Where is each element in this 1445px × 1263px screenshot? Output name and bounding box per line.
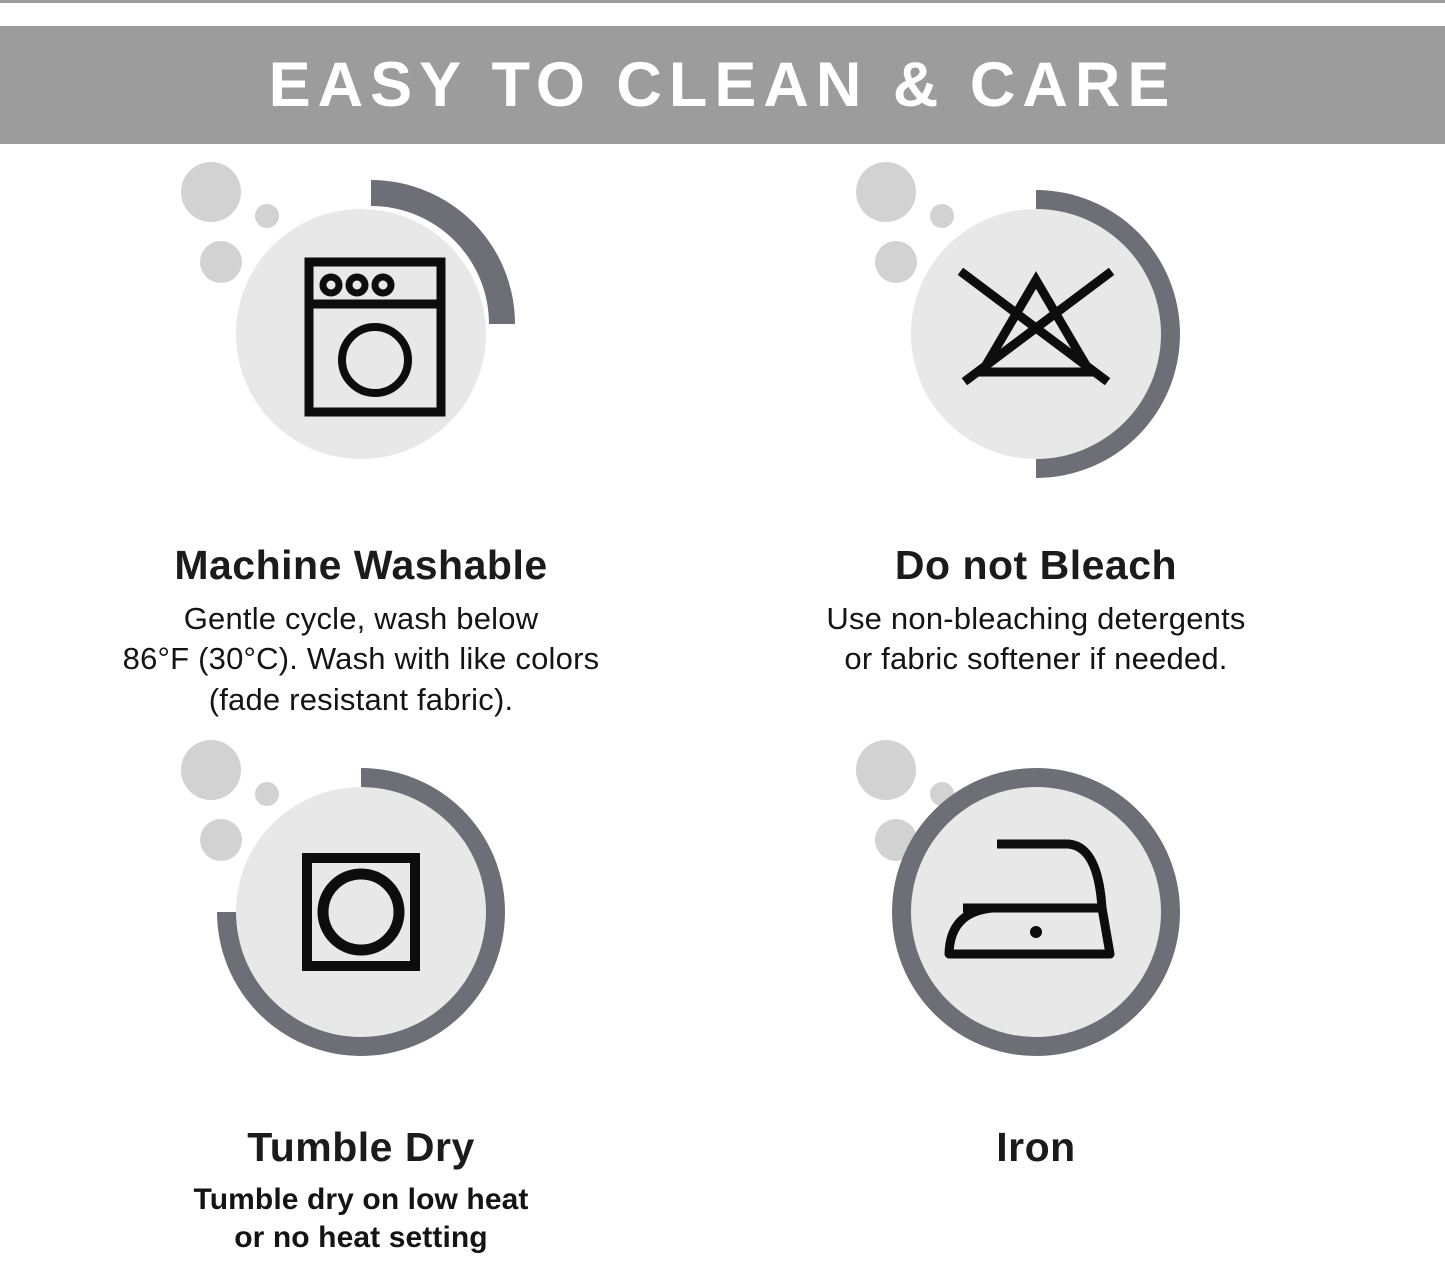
bubble-large-icon <box>181 740 241 800</box>
bubble-small-icon <box>930 204 954 228</box>
card-body-tumble-dry: Tumble dry on low heat or no heat settin… <box>41 1181 681 1257</box>
top-divider-rule <box>0 0 1445 3</box>
tumble-dry-badge <box>161 722 561 1122</box>
page-title: EASY TO CLEAN & CARE <box>269 54 1177 117</box>
iron-badge <box>836 722 1236 1122</box>
card-title-iron: Iron <box>675 1124 1397 1171</box>
badge-circle <box>911 209 1161 459</box>
bubble-small-icon <box>255 782 279 806</box>
care-card-iron: Iron <box>675 714 1397 1181</box>
card-title-do-not-bleach: Do not Bleach <box>675 542 1397 589</box>
bubble-small-icon <box>255 204 279 228</box>
tumble-dry-icon <box>161 722 561 1122</box>
card-title-tumble-dry: Tumble Dry <box>0 1124 722 1171</box>
bubble-medium-icon <box>200 819 242 861</box>
bubble-large-icon <box>856 162 916 222</box>
care-card-tumble-dry: Tumble Dry Tumble dry on low heat or no … <box>0 714 722 1257</box>
badge-circle <box>236 787 486 1037</box>
iron-icon <box>836 722 1236 1122</box>
bubble-large-icon <box>181 162 241 222</box>
bubble-medium-icon <box>875 241 917 283</box>
washing-machine-icon <box>161 144 561 544</box>
header-banner: EASY TO CLEAN & CARE <box>0 26 1445 144</box>
card-body-do-not-bleach: Use non-bleaching detergents or fabric s… <box>716 599 1356 680</box>
washing-machine-badge <box>161 144 561 544</box>
card-title-machine-washable: Machine Washable <box>0 542 722 589</box>
care-card-do-not-bleach: Do not Bleach Use non-bleaching detergen… <box>675 144 1397 680</box>
card-body-machine-washable: Gentle cycle, wash below 86°F (30°C). Wa… <box>41 599 681 720</box>
bubble-large-icon <box>856 740 916 800</box>
care-card-machine-washable: Machine Washable Gentle cycle, wash belo… <box>0 144 722 720</box>
care-instructions-infographic: EASY TO CLEAN & CARE <box>0 0 1445 1263</box>
bubble-medium-icon <box>200 241 242 283</box>
iron-heat-dot-icon <box>1030 926 1042 938</box>
no-bleach-badge <box>836 144 1236 544</box>
care-card-grid: Machine Washable Gentle cycle, wash belo… <box>0 144 1445 1263</box>
no-bleach-triangle-icon <box>836 144 1236 544</box>
